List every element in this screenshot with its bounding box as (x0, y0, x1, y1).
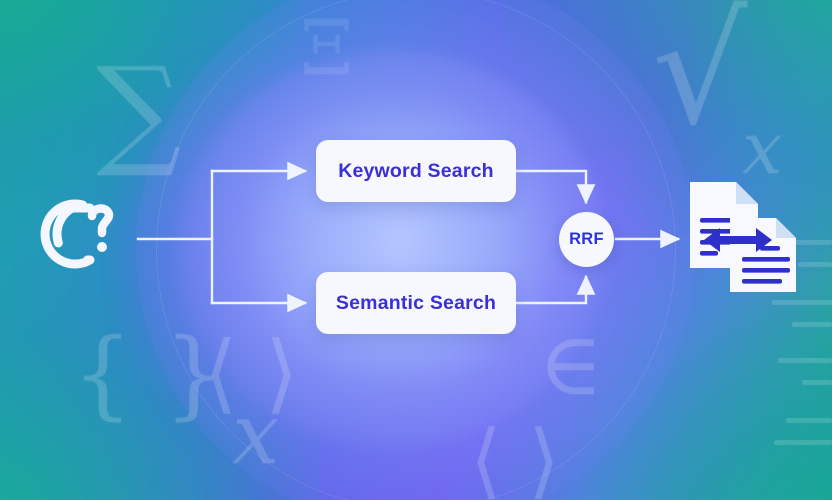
node-keyword-search[interactable]: Keyword Search (316, 140, 516, 202)
documents-exchange-icon (684, 176, 800, 298)
document-page-front (730, 218, 796, 292)
edge-keyword-to-rrf (516, 171, 586, 202)
node-semantic-search[interactable]: Semantic Search (316, 272, 516, 334)
speech-bubble-question-icon (36, 192, 128, 284)
diagram-canvas: ∑ Ξ √ x { } ⟨ ⟩ x ∈ ⟨ ⟩ (0, 0, 832, 500)
edge-semantic-to-rrf (516, 277, 586, 303)
node-rrf-label: RRF (569, 230, 604, 249)
node-rrf-fusion[interactable]: RRF (559, 212, 614, 267)
node-keyword-search-label: Keyword Search (338, 160, 494, 183)
node-semantic-search-label: Semantic Search (336, 292, 496, 315)
